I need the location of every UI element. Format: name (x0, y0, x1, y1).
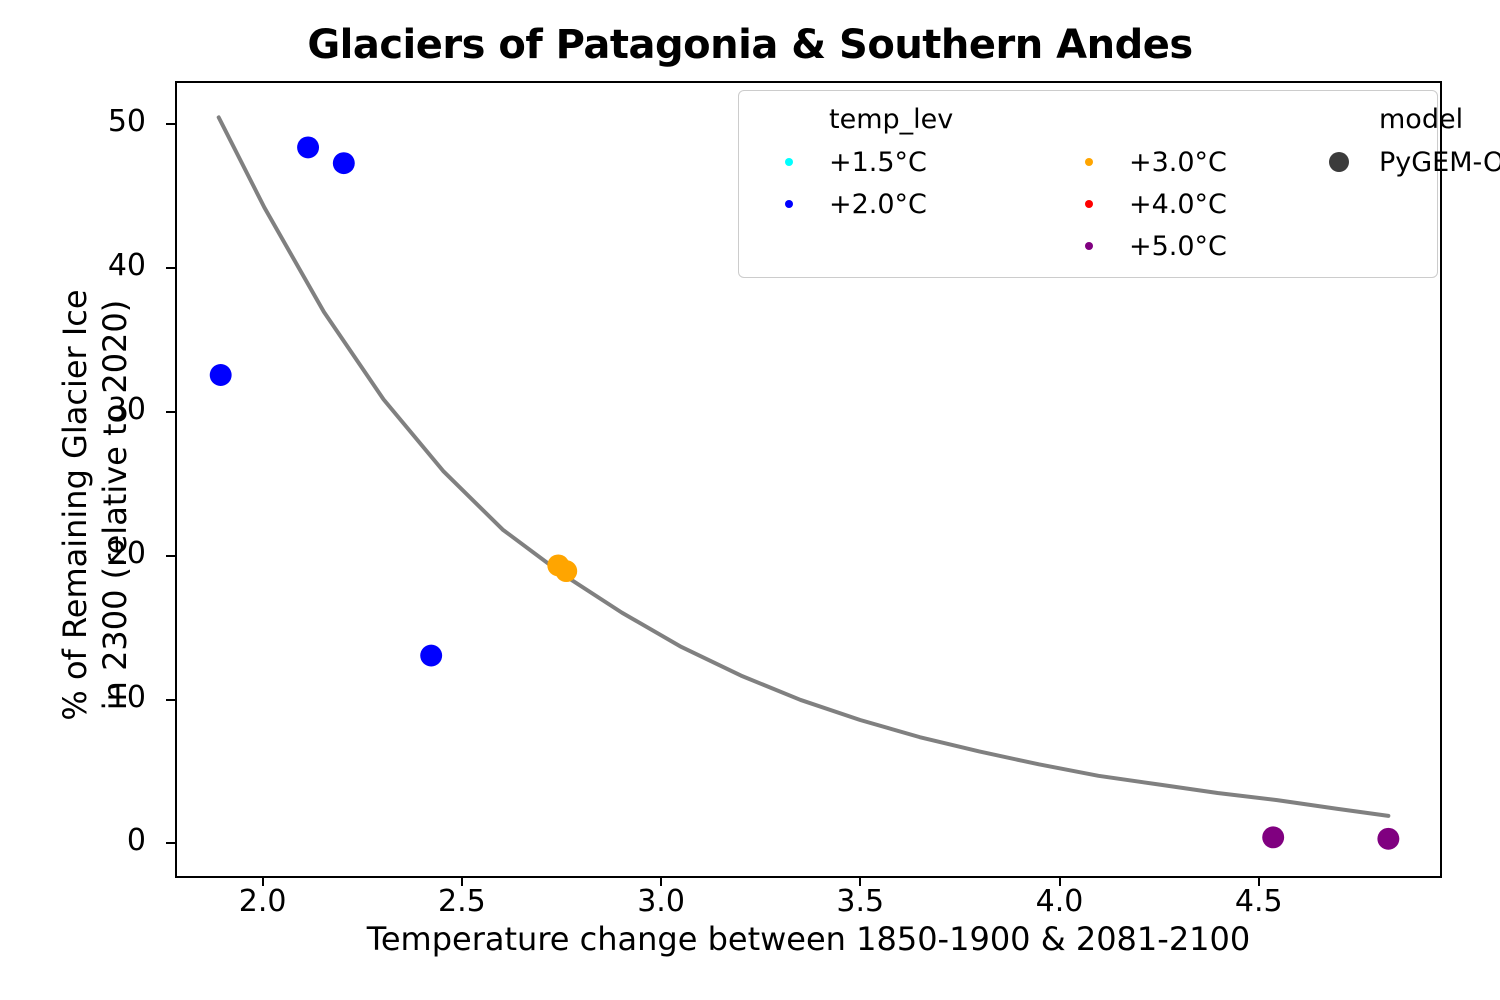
y-tick-mark (166, 267, 175, 269)
scatter-point (333, 152, 355, 174)
x-axis-label: Temperature change between 1850-1900 & 2… (175, 920, 1442, 958)
x-tick-label: 2.0 (203, 884, 323, 919)
scatter-point (1377, 828, 1399, 850)
scatter-point (297, 136, 319, 158)
legend-swatch (1049, 158, 1129, 166)
legend-group-title: model (1299, 99, 1500, 141)
legend-swatch (749, 200, 829, 208)
legend-item[interactable]: +5.0°C (1049, 225, 1299, 267)
x-tick-label: 3.5 (800, 884, 920, 919)
legend-swatch (1049, 200, 1129, 208)
page-title: Glaciers of Patagonia & Southern Andes (0, 22, 1500, 68)
x-tick-label: 4.0 (1000, 884, 1120, 919)
y-axis-label-line2: in 2300 (relative to 2020) (95, 105, 135, 905)
scatter-point (1262, 826, 1284, 848)
legend-swatch (749, 158, 829, 166)
scatter-point (210, 364, 232, 386)
legend-item-label: PyGEM-OGGM (1379, 147, 1500, 178)
y-tick-mark (166, 555, 175, 557)
legend-item[interactable]: +1.5°C (749, 141, 1049, 183)
scatter-point (555, 560, 577, 582)
legend-item[interactable]: +2.0°C (749, 183, 1049, 225)
y-axis-label-line1: % of Remaining Glacier Ice (55, 105, 95, 905)
legend-marker-dot-icon (1085, 200, 1093, 208)
legend-item-label: +3.0°C (1129, 147, 1227, 178)
x-tick-label: 3.0 (601, 884, 721, 919)
legend-group: temp_lev+1.5°C+2.0°C (749, 99, 1049, 267)
legend-marker-dot-icon (1085, 158, 1093, 166)
legend-swatch (1049, 242, 1129, 250)
legend-marker-dot-icon (1085, 242, 1093, 250)
y-tick-mark (166, 123, 175, 125)
legend-item-label: +5.0°C (1129, 231, 1227, 262)
legend-group-title (1049, 99, 1299, 141)
legend-group-title: temp_lev (749, 99, 1049, 141)
legend-marker-dot-icon (785, 158, 793, 166)
legend-item-label: +4.0°C (1129, 189, 1227, 220)
scatter-point (420, 645, 442, 667)
y-tick-mark (166, 699, 175, 701)
legend-item[interactable]: +3.0°C (1049, 141, 1299, 183)
legend-swatch (1299, 152, 1379, 172)
legend-group: +3.0°C+4.0°C+5.0°C (1049, 99, 1299, 267)
legend: temp_lev+1.5°C+2.0°C+3.0°C+4.0°C+5.0°Cmo… (738, 90, 1438, 278)
x-tick-label: 2.5 (402, 884, 522, 919)
y-tick-mark (166, 842, 175, 844)
x-tick-label: 4.5 (1199, 884, 1319, 919)
legend-marker-dot-icon (785, 200, 793, 208)
y-tick-mark (166, 411, 175, 413)
legend-item[interactable]: +4.0°C (1049, 183, 1299, 225)
legend-marker-dot-icon (1329, 152, 1349, 172)
legend-item-label: +1.5°C (829, 147, 927, 178)
legend-group: modelPyGEM-OGGM (1299, 99, 1500, 267)
legend-item[interactable]: PyGEM-OGGM (1299, 141, 1500, 183)
y-axis-label: % of Remaining Glacier Ice in 2300 (rela… (55, 105, 135, 905)
chart-page: Glaciers of Patagonia & Southern Andes 2… (0, 0, 1500, 1000)
legend-item-label: +2.0°C (829, 189, 927, 220)
